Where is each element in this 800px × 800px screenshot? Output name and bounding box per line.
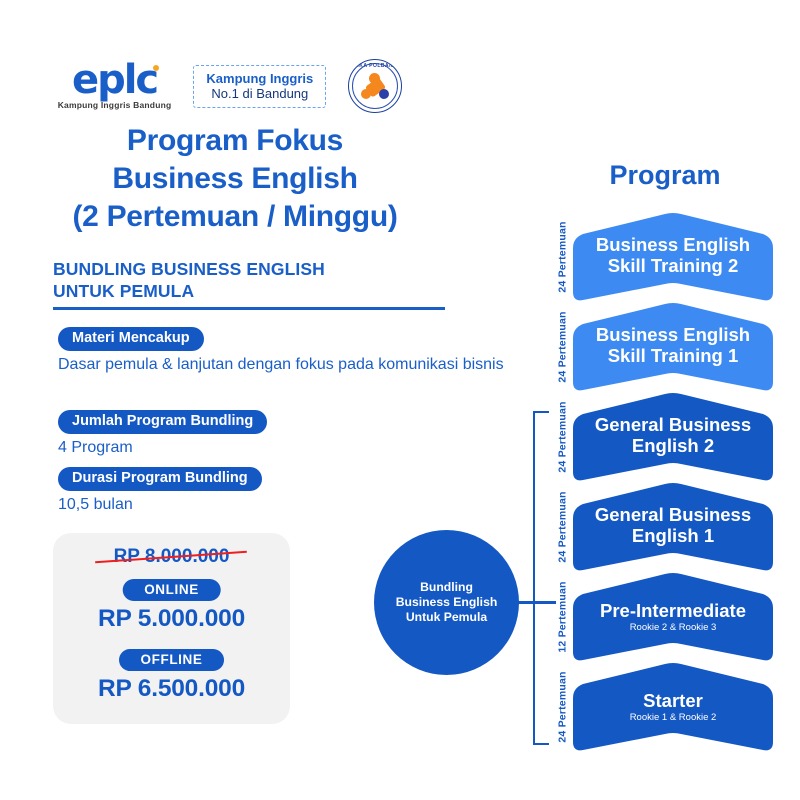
ika-polban-seal-icon: IKA POLBAN — [348, 59, 402, 113]
eplc-logo: eplc Kampung Inggris Bandung — [58, 63, 172, 110]
detail-block-jumlah: Jumlah Program Bundling 4 Program — [58, 410, 267, 458]
chevron-icon — [573, 302, 773, 392]
bundle-line-1: Bundling — [420, 580, 473, 594]
bundle-line-2: Business English — [396, 595, 498, 609]
page-title: Program Fokus Business English (2 Pertem… — [0, 122, 470, 236]
detail-pill-label: Materi Mencakup — [58, 327, 204, 351]
program-row: 12 Pertemuan Pre-Intermediate Rookie 2 &… — [555, 572, 785, 662]
meetings-label: 24 Pertemuan — [555, 212, 571, 302]
eplc-wordmark: eplc — [72, 63, 157, 97]
detail-text: 10,5 bulan — [58, 494, 262, 515]
chevron-shape[interactable] — [573, 572, 773, 662]
badge-line-2: No.1 di Bandung — [206, 86, 313, 102]
offline-price: RP 6.500.000 — [53, 675, 290, 703]
detail-block-materi: Materi Mencakup Dasar pemula & lanjutan … — [58, 327, 504, 375]
meetings-label: 24 Pertemuan — [555, 482, 571, 572]
price-card: RP 8.000.000 ONLINE RP 5.000.000 OFFLINE… — [53, 533, 290, 724]
meetings-label: 24 Pertemuan — [555, 392, 571, 482]
bundle-circle-badge: Bundling Business English Untuk Pemula — [374, 530, 519, 675]
chevron-icon — [573, 662, 773, 752]
seal-top-text: IKA POLBAN — [349, 63, 401, 69]
online-badge: ONLINE — [122, 579, 221, 601]
lead-line-1: BUNDLING BUSINESS ENGLISH — [53, 258, 453, 280]
headline-line-2: Business English — [0, 160, 470, 198]
program-column-title: Program — [555, 160, 775, 191]
program-row: 24 Pertemuan Business English Skill Trai… — [555, 302, 785, 392]
detail-pill-label: Durasi Program Bundling — [58, 467, 262, 491]
eplc-accent-dot — [153, 65, 159, 71]
headline-line-3: (2 Pertemuan / Minggu) — [0, 198, 470, 236]
detail-text: Dasar pemula & lanjutan dengan fokus pad… — [58, 354, 504, 375]
lead-line-2: UNTUK PEMULA — [53, 280, 453, 302]
detail-text: 4 Program — [58, 437, 267, 458]
detail-pill-label: Jumlah Program Bundling — [58, 410, 267, 434]
bundle-bracket — [533, 411, 549, 745]
chevron-shape[interactable] — [573, 212, 773, 302]
chevron-shape[interactable] — [573, 392, 773, 482]
kampung-inggris-badge: Kampung Inggris No.1 di Bandung — [193, 65, 326, 108]
meetings-label: 24 Pertemuan — [555, 302, 571, 392]
bundle-circle-text: Bundling Business English Untuk Pemula — [396, 580, 498, 625]
chevron-icon — [573, 482, 773, 572]
meetings-label: 24 Pertemuan — [555, 662, 571, 752]
meetings-label: 12 Pertemuan — [555, 572, 571, 662]
chevron-shape[interactable] — [573, 302, 773, 392]
program-row: 24 Pertemuan Business English Skill Trai… — [555, 212, 785, 302]
chevron-shape[interactable] — [573, 662, 773, 752]
chevron-icon — [573, 392, 773, 482]
offline-badge: OFFLINE — [119, 649, 225, 671]
headline-line-1: Program Fokus — [0, 122, 470, 160]
logo-row: eplc Kampung Inggris Bandung Kampung Ing… — [0, 58, 460, 114]
program-row: 24 Pertemuan General Business English 1 — [555, 482, 785, 572]
chevron-icon — [573, 212, 773, 302]
detail-block-durasi: Durasi Program Bundling 10,5 bulan — [58, 467, 262, 515]
bundle-line-3: Untuk Pemula — [406, 610, 487, 624]
chevron-icon — [573, 572, 773, 662]
chevron-shape[interactable] — [573, 482, 773, 572]
section-subtitle: BUNDLING BUSINESS ENGLISH UNTUK PEMULA — [53, 258, 453, 302]
program-row: 24 Pertemuan Starter Rookie 1 & Rookie 2 — [555, 662, 785, 752]
divider — [53, 307, 445, 310]
badge-line-1: Kampung Inggris — [206, 71, 313, 86]
original-price: RP 8.000.000 — [53, 546, 290, 568]
online-price: RP 5.000.000 — [53, 605, 290, 633]
program-chevron-list: 24 Pertemuan Business English Skill Trai… — [555, 212, 785, 752]
infographic-canvas: eplc Kampung Inggris Bandung Kampung Ing… — [0, 0, 800, 800]
program-row: 24 Pertemuan General Business English 2 — [555, 392, 785, 482]
